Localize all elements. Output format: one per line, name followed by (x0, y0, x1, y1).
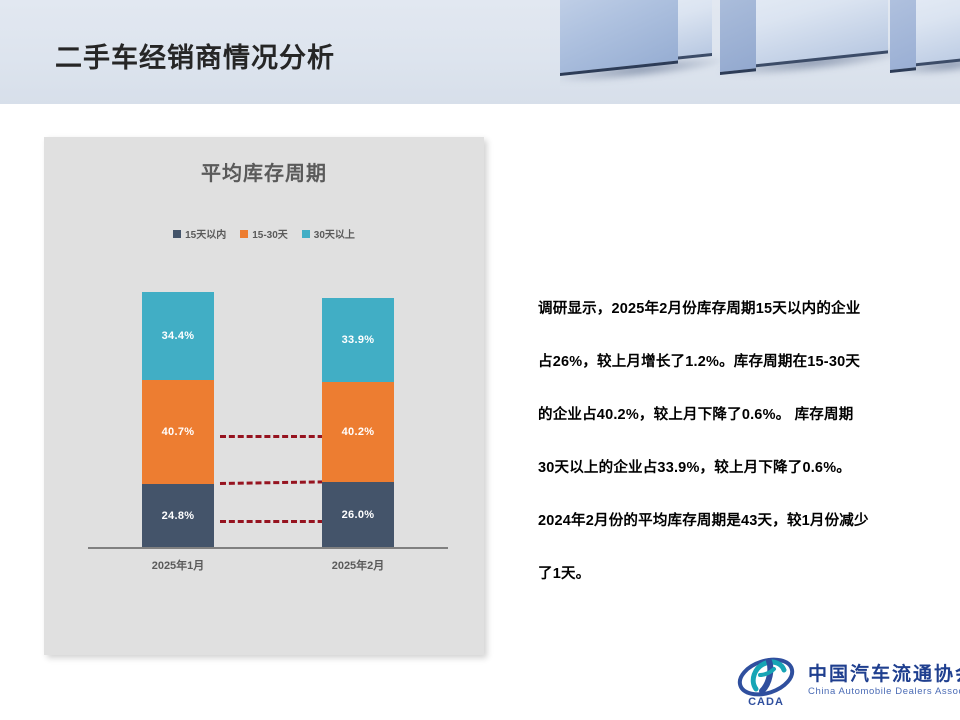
header-decorative-cubes-icon (560, 0, 960, 104)
svg-text:CADA: CADA (748, 696, 784, 707)
bar-segment-15-to-30-days[interactable]: 40.7% (142, 380, 214, 484)
logo-name-cn: 中国汽车流通协会 (808, 664, 960, 686)
page-title: 二手车经销商情况分析 (55, 36, 335, 75)
cada-logo: CADA 中国汽车流通协会 China Automobile Dealers A… (736, 652, 954, 710)
bar-value-label: 26.0% (342, 509, 375, 521)
bar-segment-15-days-under[interactable]: 24.8% (142, 484, 214, 547)
analysis-text-block: 调研显示，2025年2月份库存周期15天以内的企业 占26%，较上月增长了1.2… (538, 283, 938, 601)
plot-area: 34.4% 40.7% 24.8% 33.9% 40.2% 26.0% 2025… (44, 137, 484, 655)
x-axis-label-2025-01: 2025年1月 (108, 557, 248, 573)
chart-panel: 平均库存周期 15天以内 15-30天 30天以上 34.4% 40.7% (44, 137, 484, 655)
analysis-line: 的企业占40.2%，较上月下降了0.6%。 库存周期 (538, 389, 938, 442)
bar-value-label: 24.8% (162, 510, 195, 522)
bar-column-2025-01[interactable]: 34.4% 40.7% 24.8% (142, 292, 214, 547)
bar-value-label: 33.9% (342, 334, 375, 346)
bar-column-2025-02[interactable]: 33.9% 40.2% 26.0% (322, 298, 394, 547)
header-band: 二手车经销商情况分析 (0, 0, 960, 104)
analysis-line: 30天以上的企业占33.9%，较上月下降了0.6%。 (538, 442, 938, 495)
logo-name-en: China Automobile Dealers Association (808, 686, 960, 698)
analysis-line: 调研显示，2025年2月份库存周期15天以内的企业 (538, 283, 938, 336)
bar-segment-15-days-under[interactable]: 26.0% (322, 482, 394, 547)
cada-emblem-icon: CADA (736, 655, 800, 707)
logo-text: 中国汽车流通协会 China Automobile Dealers Associ… (808, 664, 960, 698)
bar-segment-15-to-30-days[interactable]: 40.2% (322, 382, 394, 482)
x-axis-line (88, 547, 448, 549)
bar-segment-30-days-over[interactable]: 33.9% (322, 298, 394, 382)
bar-segment-30-days-over[interactable]: 34.4% (142, 292, 214, 380)
bar-value-label: 40.7% (162, 426, 195, 438)
analysis-line: 占26%，较上月增长了1.2%。库存周期在15-30天 (538, 336, 938, 389)
analysis-line: 了1天。 (538, 548, 938, 601)
bar-value-label: 40.2% (342, 426, 375, 438)
bar-value-label: 34.4% (162, 330, 195, 342)
analysis-line: 2024年2月份的平均库存周期是43天，较1月份减少 (538, 495, 938, 548)
x-axis-label-2025-02: 2025年2月 (288, 557, 428, 573)
